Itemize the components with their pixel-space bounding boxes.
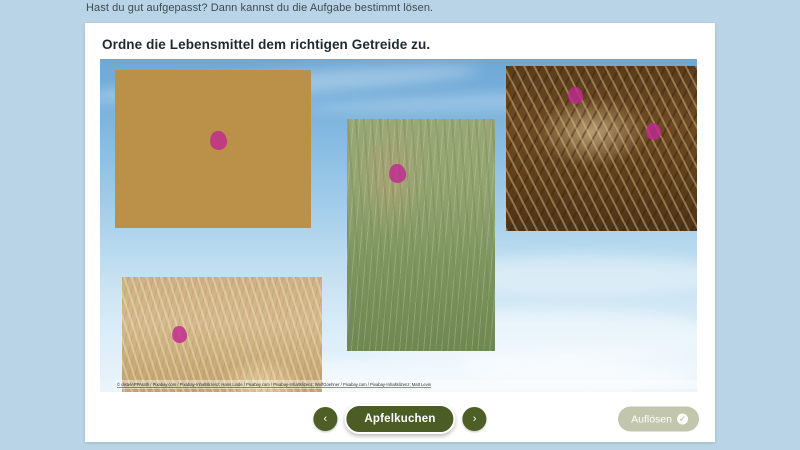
photo-gerste[interactable]: Gerste	[115, 70, 311, 228]
drag-item-controls: ‹ Apfelkuchen ›	[313, 404, 486, 434]
page-title: Ordne die Lebensmittel dem richtigen Get…	[102, 37, 430, 52]
gerste-image	[115, 70, 311, 228]
previous-item-button[interactable]: ‹	[313, 407, 337, 431]
roggen-image	[347, 119, 495, 351]
weizen-image	[506, 66, 697, 231]
image-credits[interactable]: © distelAPPArath / Pixabay.com / Pixabay…	[115, 380, 697, 389]
exercise-card: Ordne die Lebensmittel dem richtigen Get…	[85, 23, 715, 442]
hafer-image	[122, 277, 322, 392]
next-item-button[interactable]: ›	[463, 407, 487, 431]
cloud-decoration	[460, 349, 697, 383]
solve-button-label: Auflösen	[631, 413, 672, 425]
photo-collage-scene: Gerste Hafer Roggen Weizen © distelAPPAr…	[100, 59, 697, 392]
intro-text: Hast du gut aufgepasst? Dann kannst du d…	[86, 2, 433, 14]
photo-weizen[interactable]: Weizen	[506, 66, 697, 231]
solve-button[interactable]: Auflösen ✓	[618, 407, 699, 432]
photo-roggen[interactable]: Roggen	[347, 119, 495, 351]
check-circle-icon: ✓	[677, 414, 688, 425]
exercise-toolbar: ‹ Apfelkuchen › Auflösen ✓	[85, 396, 715, 442]
draggable-answer-apfelkuchen[interactable]: Apfelkuchen	[344, 404, 455, 434]
photo-hafer[interactable]: Hafer	[122, 277, 322, 392]
